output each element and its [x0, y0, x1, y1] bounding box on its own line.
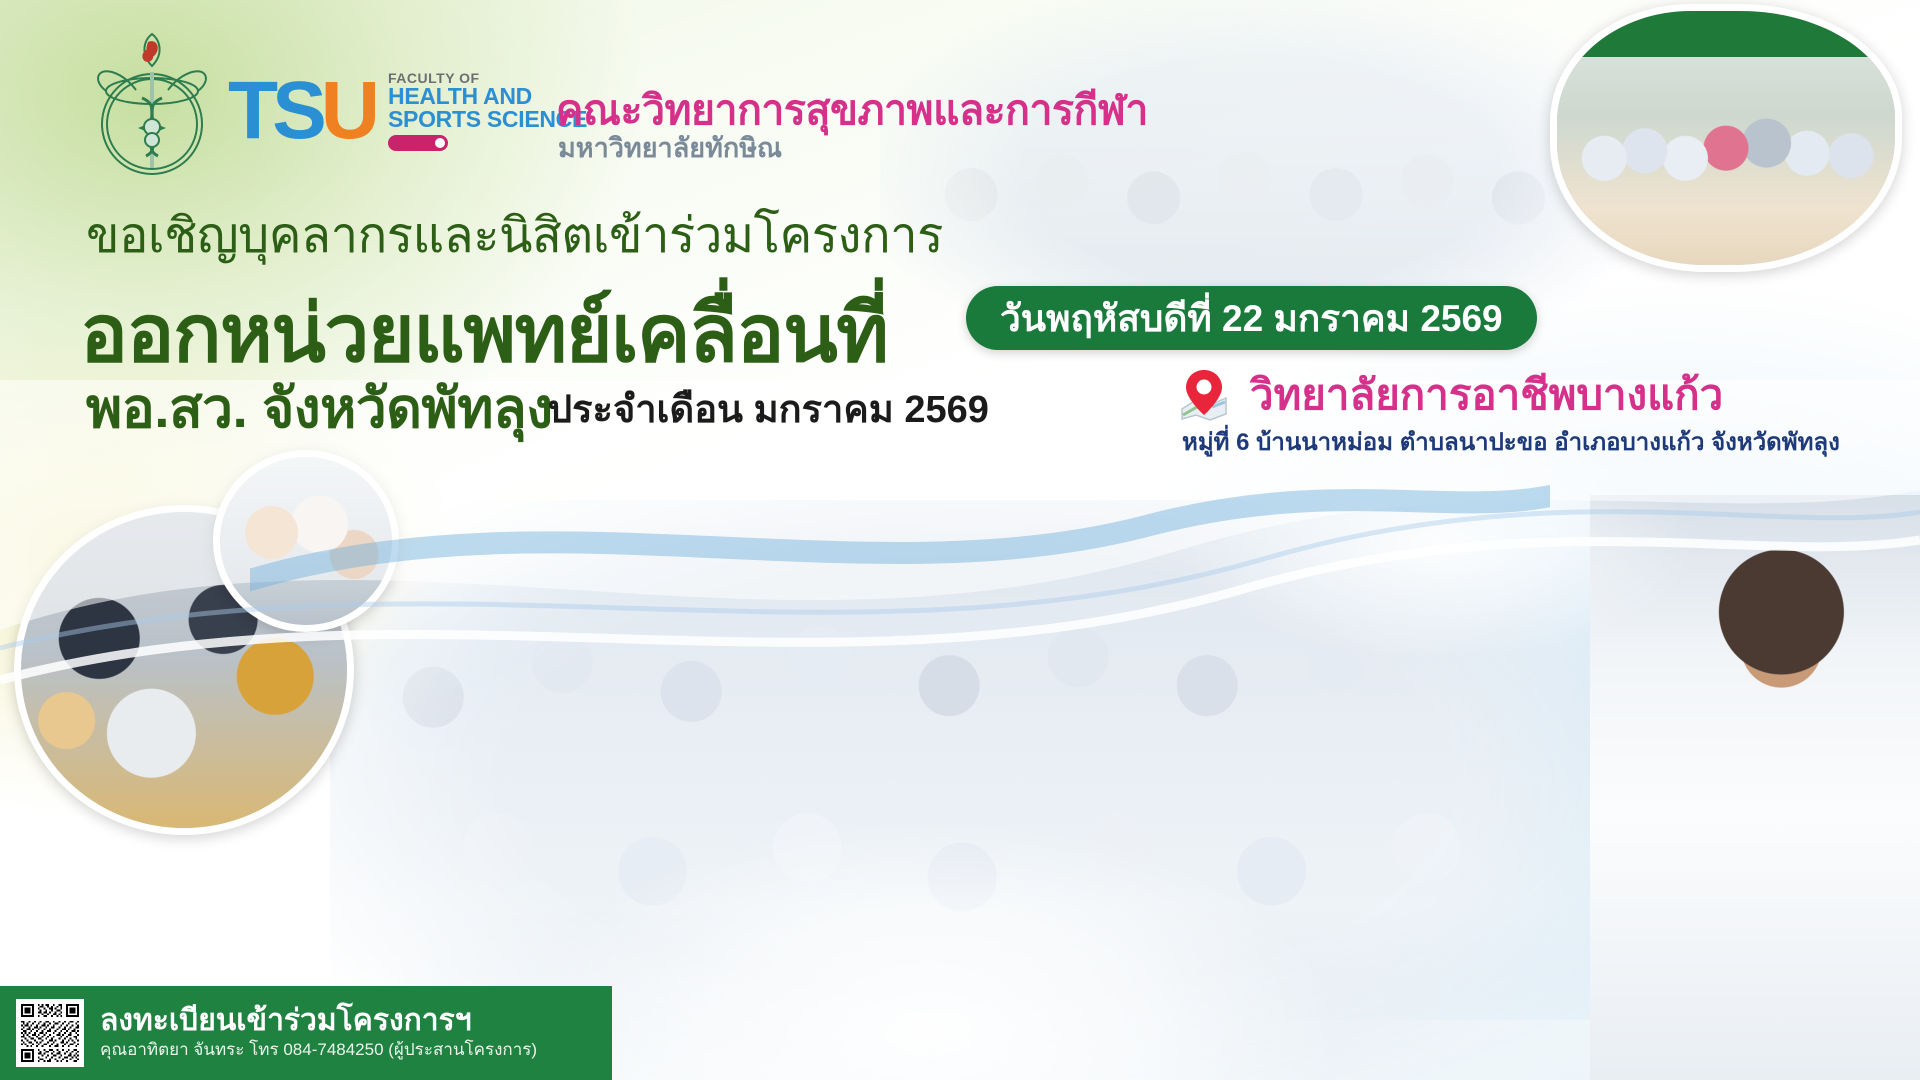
register-text-block: ลงทะเบียนเข้าร่วมโครงการฯ คุณอาทิตยา จัน…	[100, 1004, 537, 1061]
venue-name: วิทยาลัยการอาชีพบางแก้ว	[1250, 362, 1723, 428]
venue-row: วิทยาลัยการอาชีพบางแก้ว	[1180, 362, 1723, 428]
university-name: มหาวิทยาลัยทักษิณ	[558, 126, 782, 169]
mist-overlay-secondary	[1180, 430, 1700, 660]
date-badge: วันพฤหัสบดีที่ 22 มกราคม 2569	[966, 286, 1537, 350]
tsu-letter-s: S	[272, 65, 321, 156]
headline-sub: พอ.สว. จังหวัดพัทลุง	[86, 365, 553, 452]
photo-group-top	[880, 0, 1640, 320]
register-title: ลงทะเบียนเข้าร่วมโครงการฯ	[100, 1004, 537, 1037]
photo-top-right-team	[1550, 4, 1902, 272]
tsu-letter-t: T	[228, 65, 272, 156]
tsu-letter-u: U	[321, 65, 374, 156]
qr-code-icon[interactable]	[16, 999, 84, 1067]
photo-bottom-left-small	[213, 450, 399, 632]
tsu-pink-pill-icon	[388, 135, 448, 151]
map-pin-icon	[1180, 369, 1238, 421]
tsu-logo: TSU FACULTY OF HEALTH AND SPORTS SCIENCE	[228, 62, 587, 160]
month-label: ประจำเดือน มกราคม 2569	[548, 378, 989, 439]
register-bar: ลงทะเบียนเข้าร่วมโครงการฯ คุณอาทิตยา จัน…	[0, 986, 612, 1080]
invite-line: ขอเชิญบุคลากรและนิสิตเข้าร่วมโครงการ	[86, 196, 943, 274]
mist-overlay	[520, 820, 1340, 1080]
date-badge-label: วันพฤหัสบดีที่ 22 มกราคม 2569	[1000, 289, 1503, 348]
por-sor-wor-royal-seal-logo	[82, 28, 222, 180]
venue-address: หมู่ที่ 6 บ้านนาหม่อม ตำบลนาปะขอ อำเภอบา…	[1182, 422, 1840, 461]
poster-canvas: TSU FACULTY OF HEALTH AND SPORTS SCIENCE…	[0, 0, 1920, 1080]
register-contact: คุณอาทิตยา จันทระ โทร 084-7484250 (ผู้ปร…	[100, 1039, 537, 1061]
